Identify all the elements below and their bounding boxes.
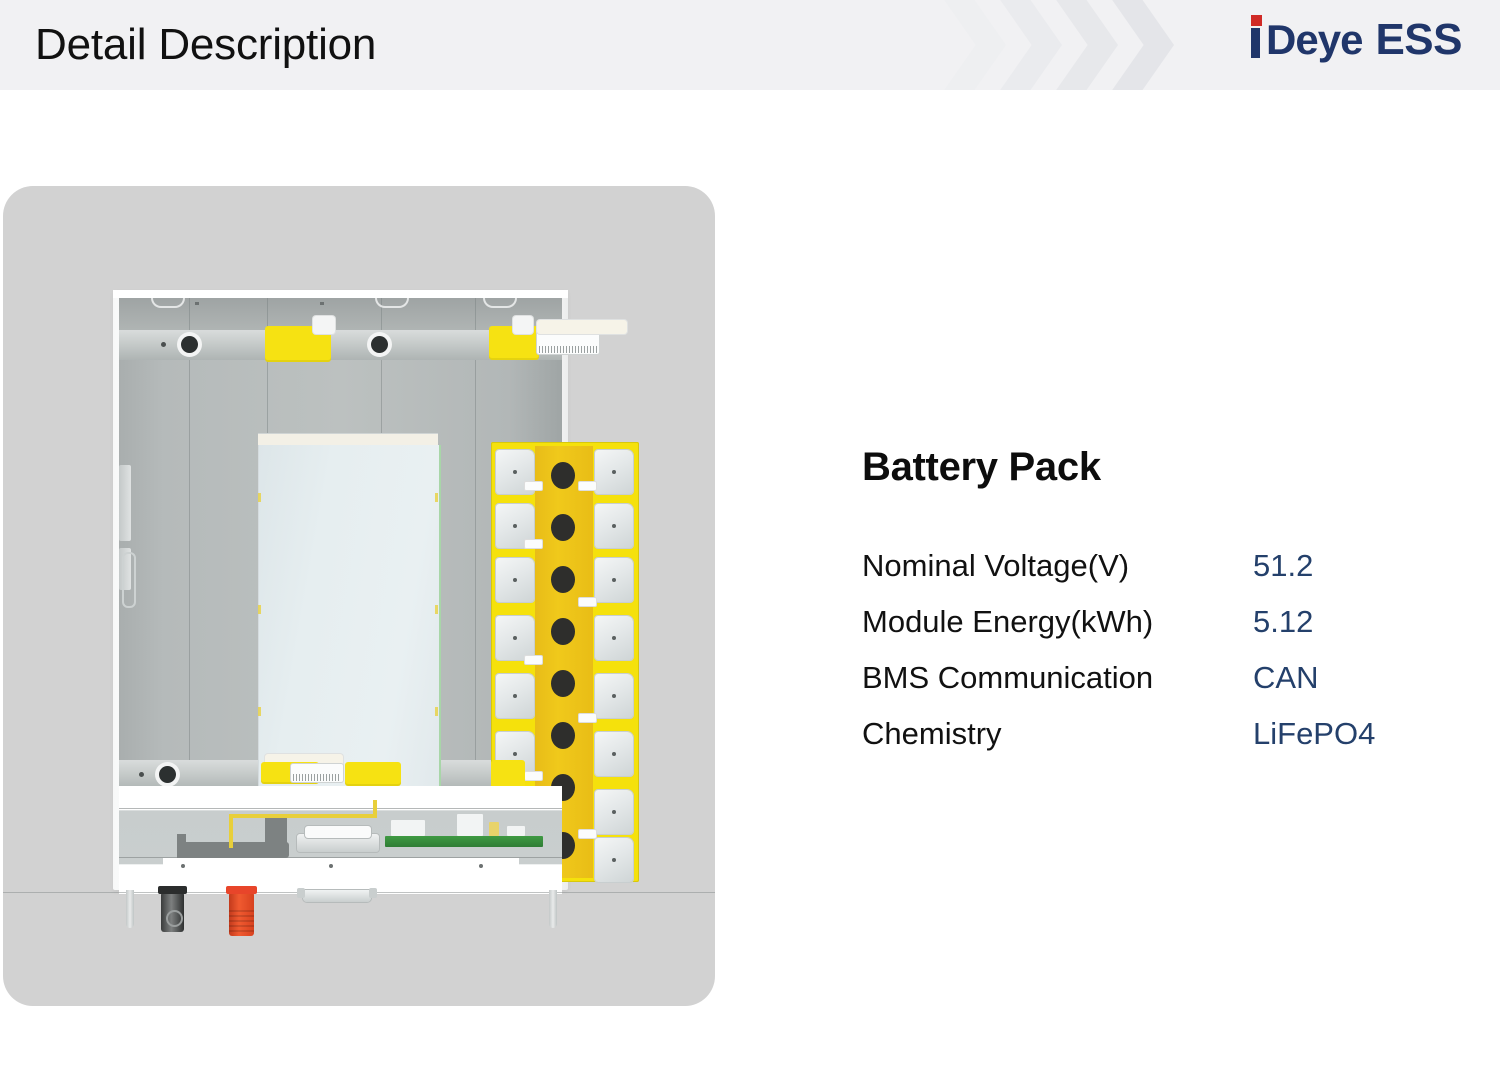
- spec-row-bms-communication: BMS Communication CAN: [862, 658, 1462, 714]
- bottom-screw-dot: [329, 864, 333, 868]
- spec-value: CAN: [1253, 658, 1318, 698]
- bms-vent-hole: [551, 514, 575, 541]
- yellow-wire: [373, 800, 377, 818]
- busbar-tab: [525, 540, 542, 548]
- bms-vent-hole: [551, 618, 575, 645]
- ffc-teeth: [539, 346, 597, 353]
- comm-port-tab: [297, 888, 305, 898]
- spec-value: 5.12: [1253, 602, 1313, 642]
- cell-edge-tick: [435, 707, 438, 716]
- cell-terminal-plate: [595, 558, 633, 602]
- mounting-foot-right: [549, 890, 557, 928]
- chevron-right-icon: [940, 0, 1006, 90]
- busbar-tab: [525, 656, 542, 664]
- pcb-component: [457, 814, 483, 836]
- spec-label: Module Energy(kWh): [862, 602, 1253, 642]
- side-slot: [122, 552, 136, 608]
- positive-terminal: [229, 892, 254, 936]
- pcb-component: [391, 820, 425, 836]
- cell-terminal-plate: [595, 838, 633, 882]
- cell-edge-tick: [435, 605, 438, 614]
- spec-row-nominal-voltage: Nominal Voltage(V) 51.2: [862, 546, 1462, 602]
- negative-terminal-ring: [166, 910, 183, 927]
- battery-pack-cutaway-image: [3, 186, 715, 1006]
- bottom-screw-dot: [479, 864, 483, 868]
- top-notch: [483, 298, 517, 308]
- base-plate: [119, 786, 562, 894]
- logo-deye-text: Deye: [1266, 16, 1362, 63]
- cell-terminal-plate: [595, 732, 633, 776]
- top-dot: [320, 302, 324, 305]
- brand-logo: Deye ESS: [1251, 13, 1462, 67]
- page-title: Detail Description: [35, 16, 376, 74]
- mounting-foot-left: [126, 890, 134, 928]
- bms-connector-bridge: [513, 316, 533, 334]
- cell-edge-tick: [258, 493, 261, 502]
- cell-terminal-plate: [595, 616, 633, 660]
- cell-terminal-plate: [595, 674, 633, 718]
- spec-label: Chemistry: [862, 714, 1253, 754]
- top-notch: [375, 298, 409, 308]
- pcb-component: [507, 826, 525, 836]
- rail-mount-hole: [159, 766, 176, 783]
- busbar-tab: [525, 772, 542, 780]
- positive-terminal-grooves: [229, 910, 254, 934]
- cell-edge-tick: [435, 493, 438, 502]
- spec-value: 51.2: [1253, 546, 1313, 586]
- spec-title: Battery Pack: [862, 444, 1462, 490]
- bottom-screw-dot: [181, 864, 185, 868]
- spec-value: LiFePO4: [1253, 714, 1375, 754]
- cell-terminal-plate: [595, 450, 633, 494]
- busbar-tab: [579, 482, 596, 490]
- product-image-panel: [3, 186, 715, 1006]
- logo-deye-wordmark: Deye: [1251, 13, 1362, 67]
- negative-terminal: [161, 892, 184, 932]
- spec-row-module-energy: Module Energy(kWh) 5.12: [862, 602, 1462, 658]
- spec-row-chemistry: Chemistry LiFePO4: [862, 714, 1462, 770]
- cell-terminal-plate: [496, 558, 534, 602]
- ffc-top-strip: [537, 320, 627, 334]
- control-pcb: [385, 836, 543, 847]
- cell-terminal-plate: [595, 790, 633, 834]
- enclosure-top-frame: [113, 290, 568, 298]
- logo-ess-text: ESS: [1375, 13, 1462, 67]
- cell-edge-tick: [258, 707, 261, 716]
- spec-section: Battery Pack Nominal Voltage(V) 51.2 Mod…: [862, 444, 1462, 770]
- cell-ffc-connector: [291, 764, 343, 782]
- busbar-tab: [579, 714, 596, 722]
- yellow-wire: [229, 814, 233, 848]
- logo-red-dot-icon: [1251, 15, 1262, 26]
- baseplate-edge-line: [119, 808, 562, 809]
- side-bracket: [119, 465, 131, 541]
- bms-vent-hole: [551, 462, 575, 489]
- logo-i-bar-icon: [1251, 28, 1260, 58]
- busbar-tab: [525, 482, 542, 490]
- cell-terminal-plate: [496, 616, 534, 660]
- rail-screw-dot: [139, 772, 144, 777]
- cell-bottom-cap-2: [345, 762, 401, 786]
- cell-edge-tick: [258, 605, 261, 614]
- cell-terminal-plate: [496, 674, 534, 718]
- spec-label: Nominal Voltage(V): [862, 546, 1253, 586]
- bus-connector-top: [305, 826, 371, 838]
- comm-port-connector: [303, 890, 371, 902]
- bms-vent-hole: [551, 566, 575, 593]
- pcb-component: [489, 822, 499, 836]
- bms-vent-hole: [551, 722, 575, 749]
- page-header: Detail Description Deye ESS: [0, 0, 1500, 90]
- negative-terminal-cap: [158, 886, 187, 894]
- bottom-frame: [163, 858, 519, 876]
- top-notch: [151, 298, 185, 308]
- positive-terminal-cap: [226, 886, 257, 894]
- comm-port-tab: [369, 888, 377, 898]
- top-dot: [195, 302, 199, 305]
- chevron-decoration: [940, 0, 1210, 90]
- bms-vent-hole: [551, 670, 575, 697]
- connector-bridge: [313, 316, 335, 334]
- rail-mount-hole: [181, 336, 198, 353]
- cable-end: [177, 834, 186, 860]
- rail-mount-hole: [371, 336, 388, 353]
- ffc-teeth: [293, 774, 341, 781]
- busbar-tab: [579, 598, 596, 606]
- yellow-wire: [229, 814, 377, 818]
- grey-cable-run: [179, 842, 289, 858]
- spec-label: BMS Communication: [862, 658, 1253, 698]
- rail-screw-dot: [161, 342, 166, 347]
- busbar-tab: [579, 830, 596, 838]
- cell-terminal-plate: [595, 504, 633, 548]
